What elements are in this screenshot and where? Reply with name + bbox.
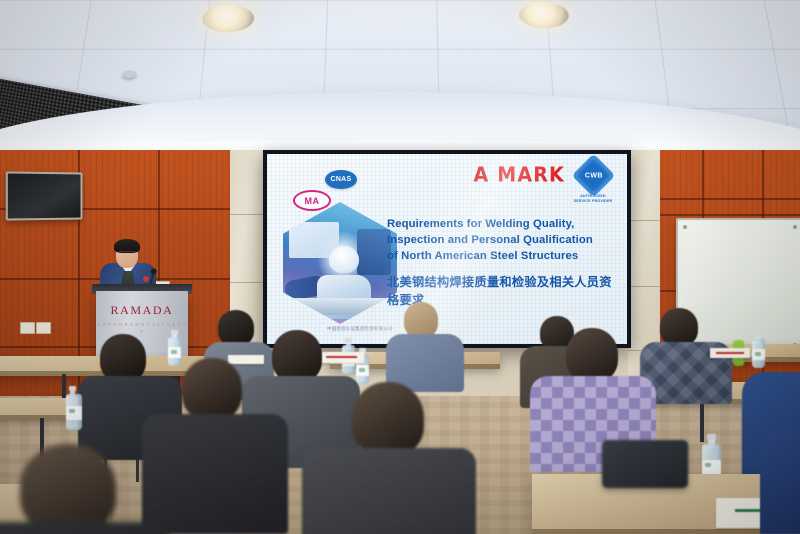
audience-head (272, 330, 322, 382)
audience-torso (302, 448, 476, 534)
wall-monitor[interactable] (6, 171, 83, 220)
audience-torso (760, 430, 800, 534)
presenter-lapel-badge (143, 276, 149, 282)
water-bottle (66, 386, 82, 430)
audience-head (182, 358, 242, 420)
chair (602, 440, 688, 488)
slide-footer-text: 中国检验认证集团检测有限公司 (327, 326, 393, 332)
cwb-badge: CWB AUTHORIZED SERVICE PROVIDER (573, 160, 613, 205)
downlight-icon (518, 2, 569, 28)
audience-head (566, 328, 618, 382)
whiteboard-screw (793, 225, 797, 229)
wall-outlet-left2 (36, 322, 51, 334)
cwb-badge-diamond-icon: CWB (571, 154, 615, 197)
audience-torso (142, 414, 288, 534)
podium-brand-label: RAMADA (96, 303, 188, 318)
photo-worker-helmet (329, 246, 359, 273)
audience-head (100, 334, 146, 382)
cnas-logo: CNAS (325, 170, 357, 189)
audience-torso (0, 522, 170, 534)
water-bottle (752, 332, 765, 368)
photo-bench (290, 298, 388, 315)
a-mark-logo: A MARK (474, 164, 566, 186)
audience-head (20, 444, 116, 534)
conference-room-photo: A MARK CWB AUTHORIZED SERVICE PROVIDER C… (0, 0, 800, 534)
projection-screen[interactable]: A MARK CWB AUTHORIZED SERVICE PROVIDER C… (263, 150, 631, 348)
ma-logo: MA (293, 190, 331, 211)
water-bottle (168, 330, 181, 366)
slide-title-line3: of North American Steel Structures (387, 248, 619, 264)
cnas-logo-text: CNAS (330, 176, 351, 183)
cwb-sub-line2: SERVICE PROVIDER (573, 199, 613, 204)
audience-head (404, 302, 438, 338)
wall-outlet-left (20, 322, 35, 334)
presentation-slide: A MARK CWB AUTHORIZED SERVICE PROVIDER C… (267, 154, 627, 344)
ma-logo-text: MA (305, 196, 320, 206)
welding-inspection-photo (283, 202, 397, 324)
a-mark-logo-text: A MARK (474, 163, 566, 186)
audience-head (660, 308, 698, 346)
presenter-glasses-icon (119, 251, 135, 256)
audience-head (218, 310, 254, 346)
slide-title-line1: Requirements for Welding Quality, (387, 216, 619, 232)
audience-head (352, 382, 424, 456)
slide-title: Requirements for Welding Quality, Inspec… (387, 216, 619, 264)
handout-paper (228, 355, 264, 364)
slide-title-line2: Inspection and Personal Qualification (387, 232, 619, 248)
handout-paper (320, 352, 364, 363)
handout-paper (710, 348, 750, 358)
cwb-badge-text: CWB (584, 172, 602, 179)
whiteboard-screw (683, 225, 687, 229)
